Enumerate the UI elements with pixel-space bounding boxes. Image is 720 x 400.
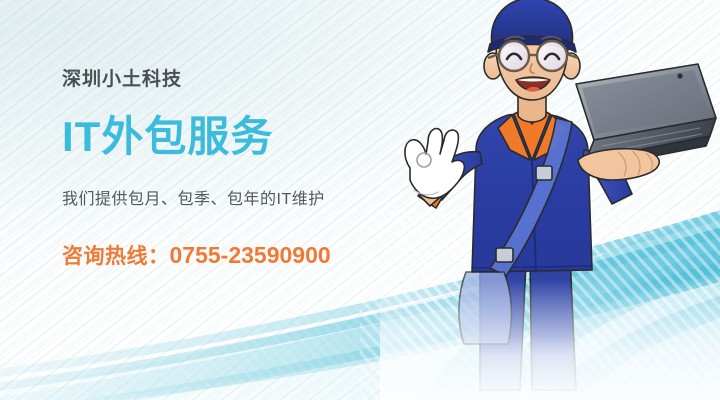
banner-text-column: 深圳小土科技 IT外包服务 我们提供包月、包季、包年的IT维护 咨询热线：075… xyxy=(62,68,392,271)
it-outsourcing-banner: 深圳小土科技 IT外包服务 我们提供包月、包季、包年的IT维护 咨询热线：075… xyxy=(0,0,720,400)
hotline-label: 咨询热线： xyxy=(62,245,170,268)
brand-name: 深圳小土科技 xyxy=(62,68,392,93)
hotline-number: 0755-23590900 xyxy=(170,242,331,268)
it-technician-illustration xyxy=(380,0,720,400)
headline-title: IT外包服务 xyxy=(62,115,392,159)
service-subtitle: 我们提供包月、包季、包年的IT维护 xyxy=(62,189,392,211)
hotline-line: 咨询热线：0755-23590900 xyxy=(62,241,392,271)
